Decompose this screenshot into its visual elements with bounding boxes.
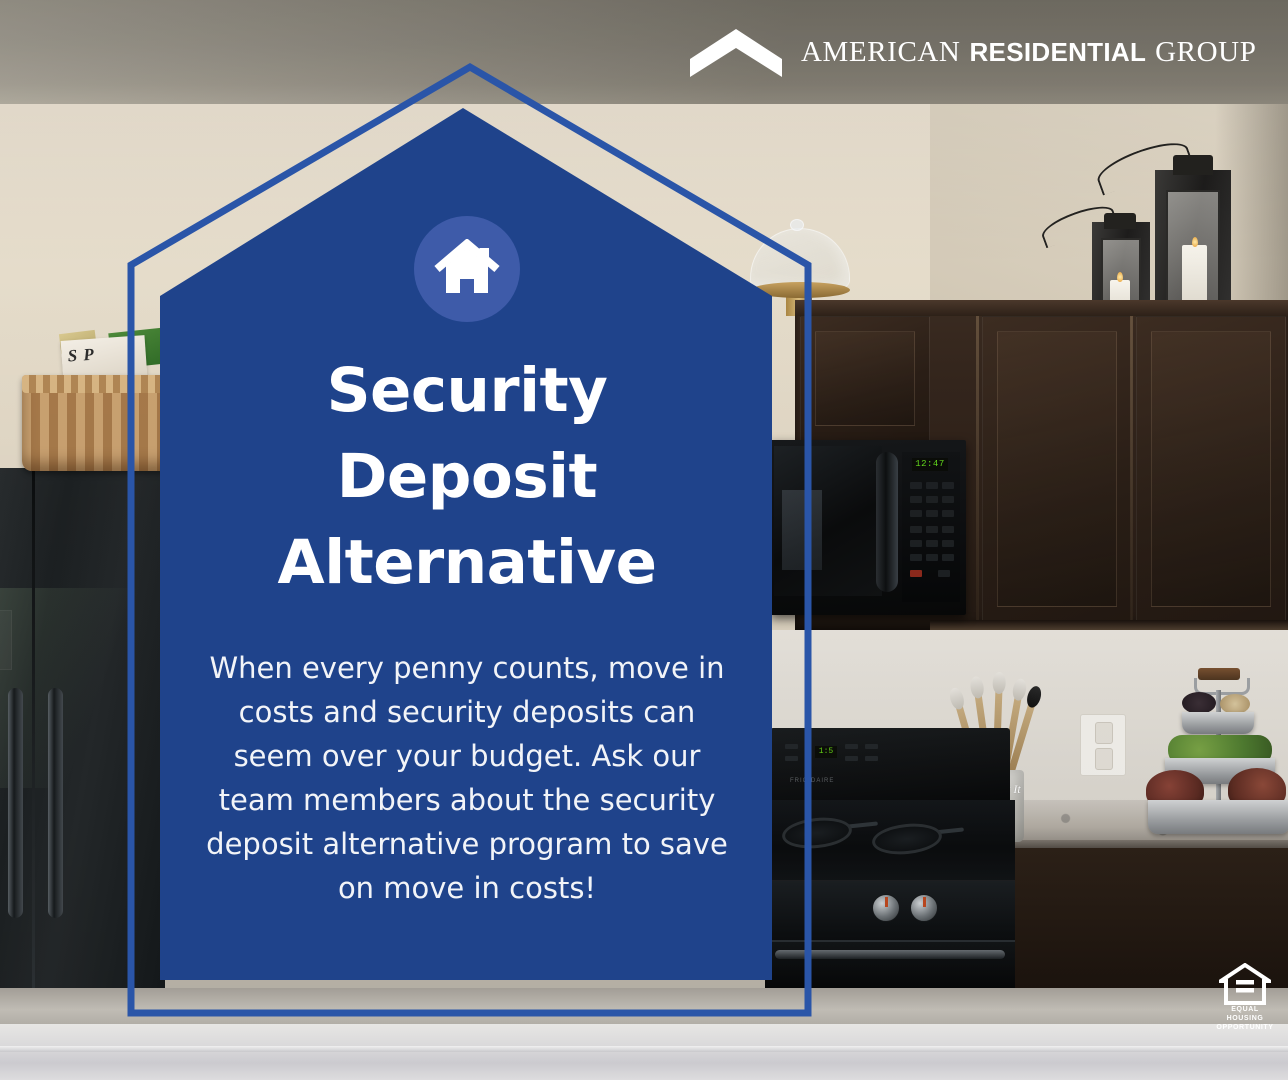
brand-word-residential: RESIDENTIAL bbox=[969, 37, 1146, 68]
body-copy: When every penny counts, move in costs a… bbox=[197, 646, 737, 910]
headline-line-3: Alternative bbox=[160, 520, 774, 606]
brand-lockup: AMERICAN RESIDENTIAL GROUP bbox=[690, 27, 1256, 77]
equal-housing-opportunity-icon bbox=[1219, 963, 1271, 1005]
brand-word-american: AMERICAN bbox=[801, 36, 960, 69]
eho-line-1: EQUAL HOUSING bbox=[1216, 1005, 1274, 1023]
headline: Security Deposit Alternative bbox=[160, 348, 774, 606]
home-icon-badge bbox=[414, 216, 520, 322]
eho-line-2: OPPORTUNITY bbox=[1216, 1023, 1274, 1032]
headline-line-1: Security bbox=[160, 348, 774, 434]
brand-word-group: GROUP bbox=[1155, 36, 1256, 69]
equal-housing-opportunity-lockup: EQUAL HOUSING OPPORTUNITY bbox=[1216, 963, 1274, 1027]
brand-wordmark: AMERICAN RESIDENTIAL GROUP bbox=[801, 36, 1256, 69]
headline-line-2: Deposit bbox=[160, 434, 774, 520]
home-icon bbox=[434, 239, 500, 299]
card-content: Security Deposit Alternative When every … bbox=[160, 108, 774, 980]
chevron-roof-icon bbox=[690, 27, 782, 77]
poster-canvas: FRIGIDAIRE 12:47 bbox=[0, 0, 1288, 1080]
